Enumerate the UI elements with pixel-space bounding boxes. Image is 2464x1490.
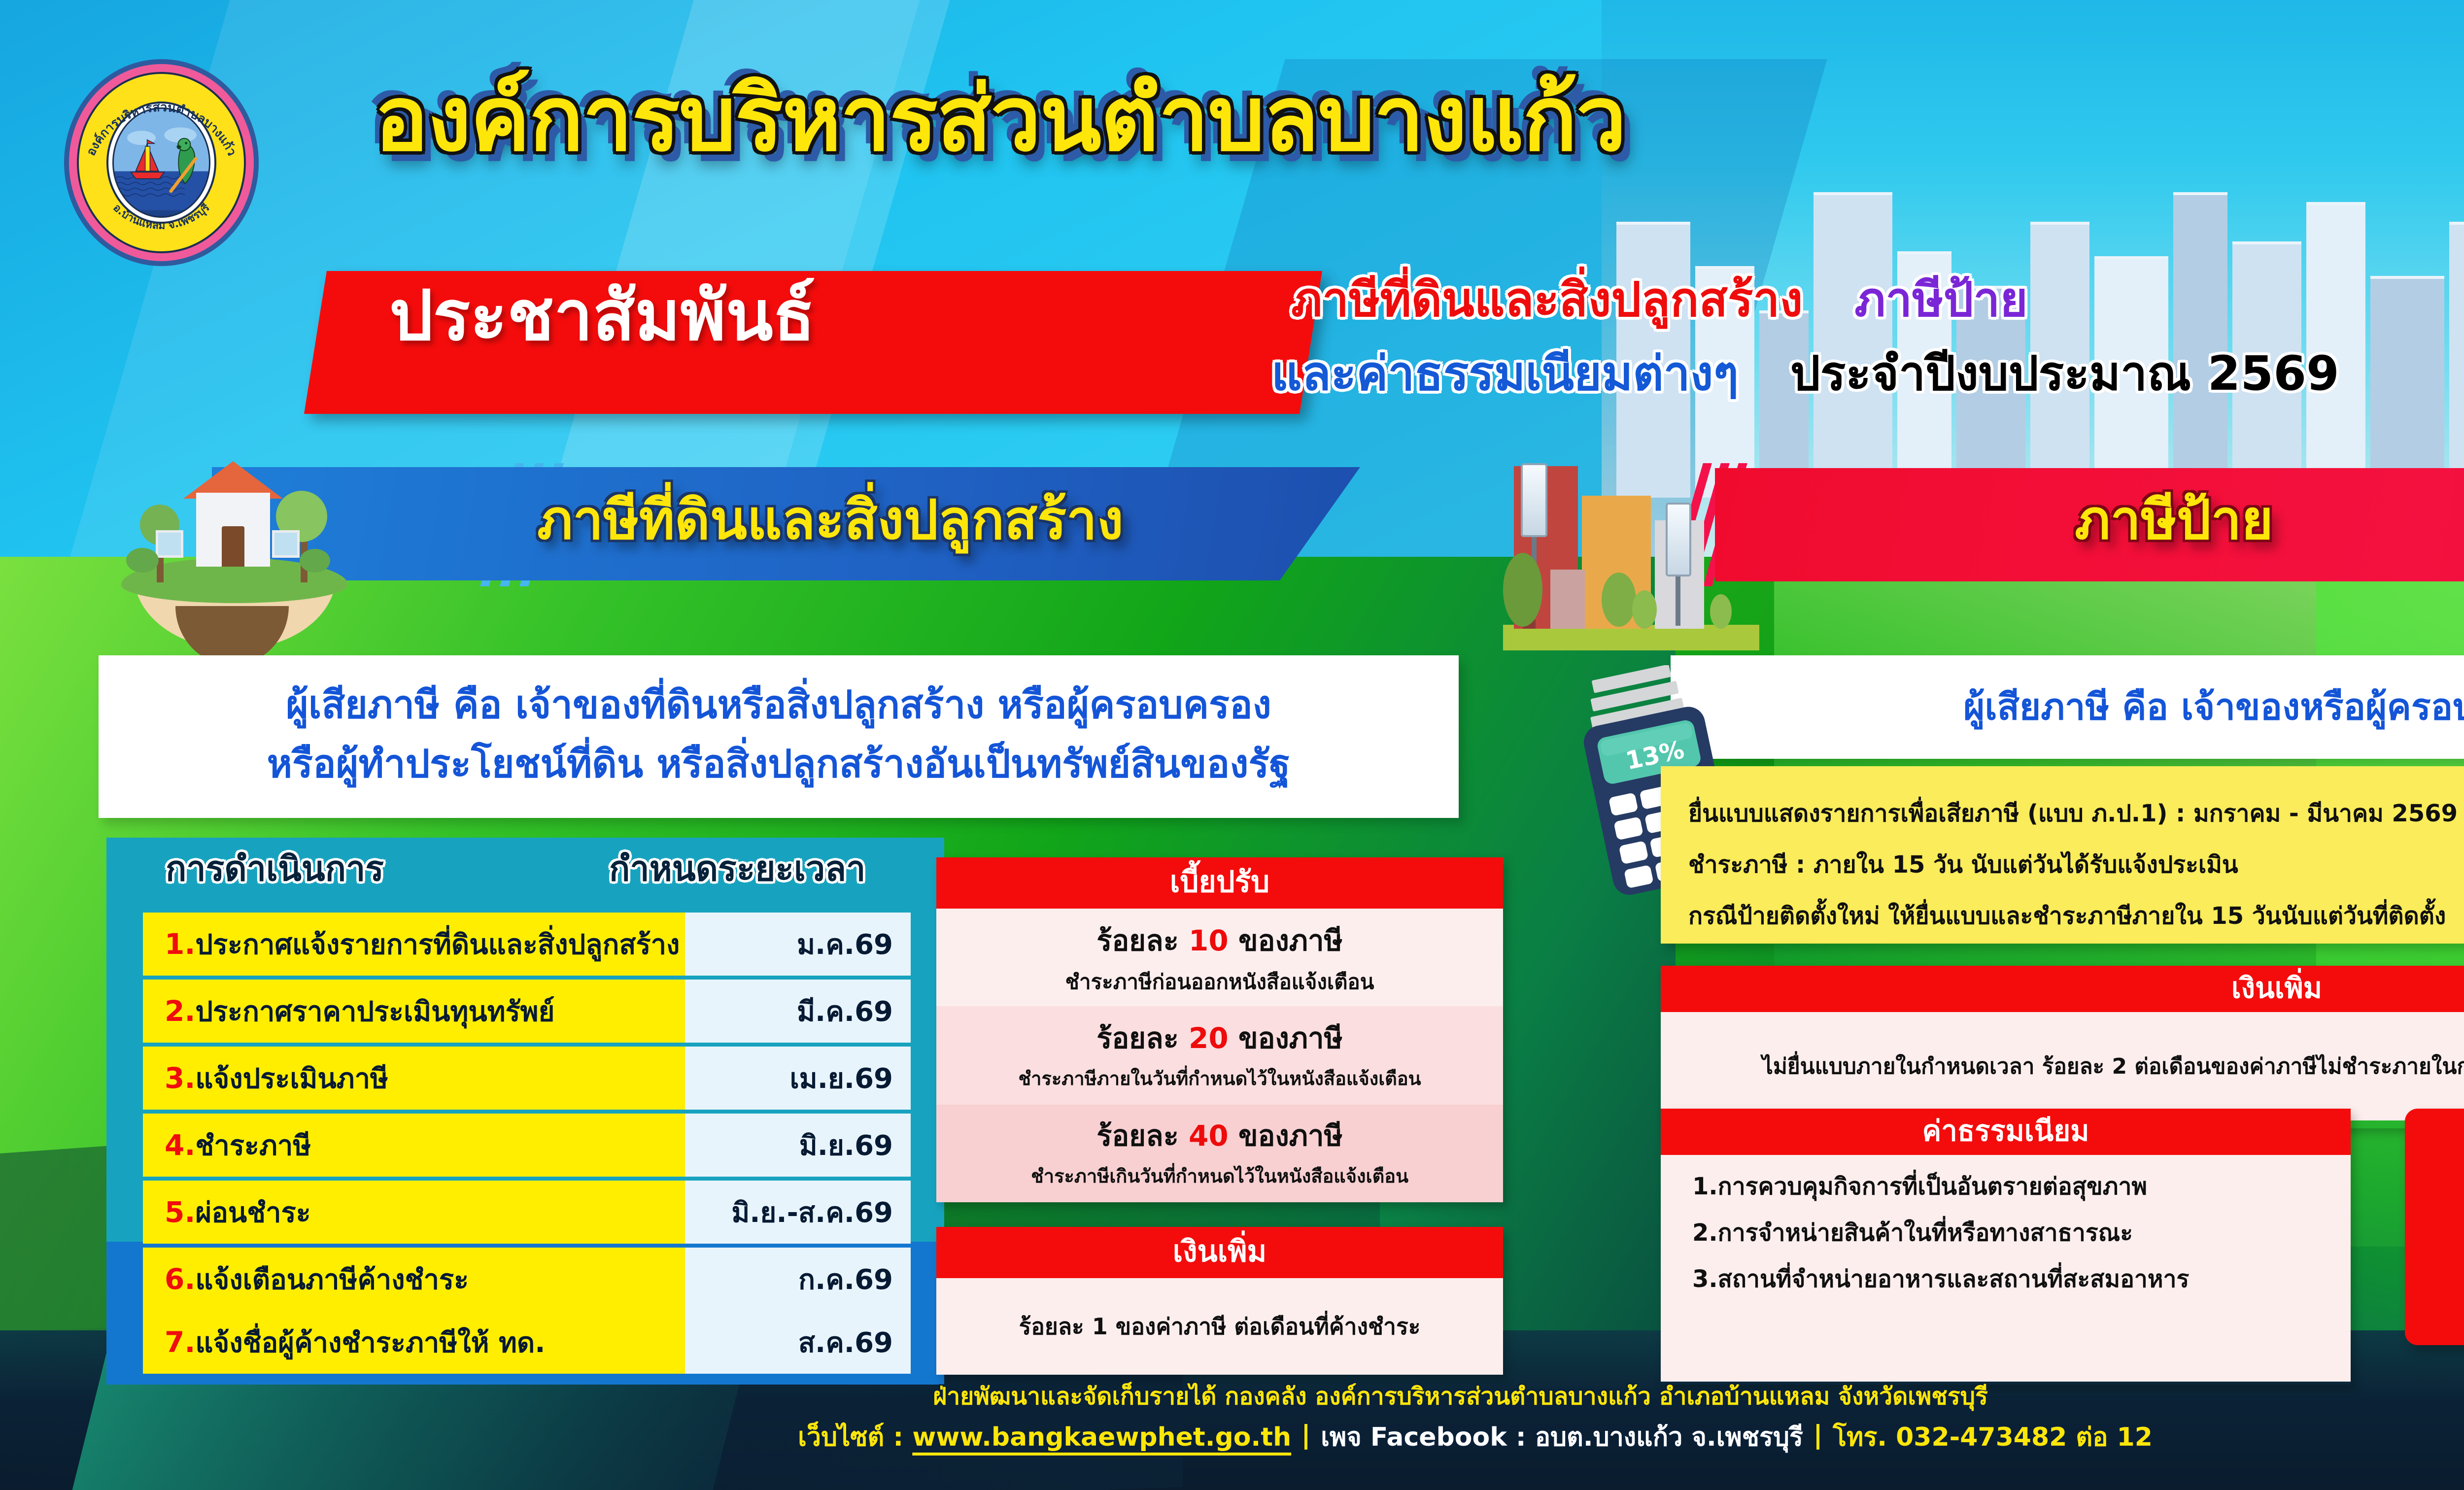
subtitle-land-tax: ภาษีที่ดินและสิ่งปลูกสร้าง (1291, 272, 1803, 327)
table-header-row: การดำเนินการ กำหนดระยะเวลา (106, 847, 944, 906)
row-number: 1. (165, 927, 195, 961)
table-cell-period: ส.ค.69 (685, 1311, 911, 1374)
table-row: 1. ประกาศแจ้งรายการที่ดินและสิ่งปลูกสร้า… (143, 913, 911, 976)
section-title-signboard-tax: ภาษีป้าย (2075, 493, 2273, 547)
penalty-rate-3: ร้อยละ 40 ของภาษี (936, 1121, 1503, 1150)
land-tax-intro-line2: หรือผู้ทำประโยชน์ที่ดิน หรือสิ่งปลูกสร้า… (99, 745, 1459, 783)
land-tax-schedule-table: การดำเนินการ กำหนดระยะเวลา 1. ประกาศแจ้ง… (106, 838, 944, 1385)
footer-facebook-label[interactable]: เพจ Facebook : อบต.บางแก้ว จ.เพชรบุรี (1321, 1422, 1803, 1452)
row-number: 5. (165, 1195, 195, 1229)
buildings-illustration (1503, 453, 1759, 650)
fees-box: ค่าธรรมเนียม 1.การควบคุมกิจการที่เป็นอัน… (1661, 1109, 2351, 1385)
row-period-label: ส.ค.69 (798, 1321, 893, 1364)
table-cell-period: เม.ย.69 (685, 1047, 911, 1110)
row-action-label: ชำระภาษี (195, 1123, 311, 1167)
row-action-label: แจ้งเตือนภาษีค้างชำระ (195, 1257, 469, 1301)
row-period-label: ก.ค.69 (798, 1257, 893, 1301)
surcharge-box-left-title: เงินเพิ่ม (936, 1227, 1503, 1278)
emblem-circular-text: องค์การบริหารส่วนตำบลบางแก้ว อ.บ้านแหลม … (64, 59, 259, 266)
penalty-rate-1: ร้อยละ 10 ของภาษี (936, 926, 1503, 955)
land-tax-intro-box: ผู้เสียภาษี คือ เจ้าของที่ดินหรือสิ่งปลู… (99, 655, 1459, 818)
header-subtitle-row1: ภาษีที่ดินและสิ่งปลูกสร้าง ภาษีป้าย (1291, 276, 2028, 323)
fee-item-3: 3.สถานที่จำหน่ายอาหารและสถานที่สะสมอาหาร (1692, 1267, 2351, 1291)
table-header-action: การดำเนินการ (166, 851, 384, 886)
poster-root: องค์การบริหารส่วนตำบลบางแก้ว อ.บ้านแหลม … (0, 0, 2464, 1490)
table-cell-period: ก.ค.69 (685, 1248, 911, 1311)
surcharge-box-right-title: เงินเพิ่ม (1661, 966, 2464, 1012)
signboard-note-3: กรณีป้ายติดตั้งใหม่ ให้ยื่นแบบและชำระภาษ… (1688, 904, 2446, 928)
table-cell-period: มิ.ย.69 (685, 1114, 911, 1177)
table-cell-action: 4. ชำระภาษี (143, 1114, 729, 1177)
table-cell-period: ม.ค.69 (685, 913, 911, 976)
subtitle-fiscal-year: ประจำปีงบประมาณ 2569 (1790, 346, 2339, 401)
row-action-label: ประกาศแจ้งรายการที่ดินและสิ่งปลูกสร้าง (195, 922, 680, 966)
signboard-note-2: ชำระภาษี : ภายใน 15 วัน นับแต่วันได้รับแ… (1688, 853, 2238, 877)
footer-website-url[interactable]: www.bangkaewphet.go.th (912, 1422, 1291, 1452)
penalty-desc-3: ชำระภาษีเกินวันที่กำหนดไว้ในหนังสือแจ้งเ… (936, 1167, 1503, 1185)
penalty-box-title: เบี้ยปรับ (936, 857, 1503, 909)
row-action-label: ผ่อนชำระ (195, 1190, 310, 1234)
table-cell-period: มี.ค.69 (685, 980, 911, 1043)
table-cell-action: 1. ประกาศแจ้งรายการที่ดินและสิ่งปลูกสร้า… (143, 913, 729, 976)
row-action-label: แจ้งประเมินภาษี (195, 1056, 388, 1100)
penalty-desc-1: ชำระภาษีก่อนออกหนังสือแจ้งเตือน (936, 972, 1503, 992)
table-cell-action: 6. แจ้งเตือนภาษีค้างชำระ (143, 1248, 729, 1311)
footer-website-label: เว็บไซต์ : (798, 1422, 912, 1452)
table-row: 5. ผ่อนชำระ มิ.ย.-ส.ค.69 (143, 1181, 911, 1244)
table-cell-action: 5. ผ่อนชำระ (143, 1181, 729, 1244)
table-row: 6. แจ้งเตือนภาษีค้างชำระ ก.ค.69 (143, 1248, 911, 1311)
row-period-label: มี.ค.69 (797, 989, 893, 1033)
row-number: 4. (165, 1128, 195, 1162)
table-cell-action: 7. แจ้งชื่อผู้ค้างชำระภาษีให้ ทด. (143, 1311, 729, 1374)
penalty-box: เบี้ยปรับ ร้อยละ 10 ของภาษี ชำระภาษีก่อน… (936, 857, 1503, 1202)
fee-item-1: 1.การควบคุมกิจการที่เป็นอันตรายต่อสุขภาพ (1692, 1175, 2351, 1198)
row-number: 7. (165, 1325, 195, 1359)
footer-phone: โทร. 032-473482 ต่อ 12 (1833, 1422, 2153, 1452)
permit-renewal-box: กำหนดต่อใบอนุญาต พร้อมชำระค่าธรรมเนียมก่… (2405, 1109, 2464, 1345)
table-row: 3. แจ้งประเมินภาษี เม.ย.69 (143, 1047, 911, 1110)
signboard-tax-intro-box: ผู้เสียภาษี คือ เจ้าของหรือผู้ครอบครองป้… (1671, 655, 2464, 759)
row-period-label: มิ.ย.69 (799, 1123, 893, 1167)
emblem-arc-sublabel: อ.บ้านแหลม จ.เพชรบุรี (110, 202, 212, 232)
signboard-note-1: ยื่นแบบแสดงรายการเพื่อเสียภาษี (แบบ ภ.ป.… (1688, 802, 2458, 825)
subtitle-fees: และค่าธรรมเนียมต่างๆ (1271, 346, 1739, 401)
surcharge-box-left: เงินเพิ่ม ร้อยละ 1 ของค่าภาษี ต่อเดือนที… (936, 1227, 1503, 1375)
footer: ฝ่ายพัฒนาและจัดเก็บรายได้ กองคลัง องค์กา… (0, 1380, 2464, 1490)
svg-text:องค์การบริหารส่วนตำบลบางแก้ว: องค์การบริหารส่วนตำบลบางแก้ว (83, 100, 239, 158)
table-row: 7. แจ้งชื่อผู้ค้างชำระภาษีให้ ทด. ส.ค.69 (143, 1311, 911, 1374)
section-title-land-tax: ภาษีที่ดินและสิ่งปลูกสร้าง (537, 493, 1124, 547)
emblem-arc-label: องค์การบริหารส่วนตำบลบางแก้ว (83, 100, 239, 158)
penalty-rate-2: ร้อยละ 20 ของภาษี (936, 1024, 1503, 1052)
surcharge-box-right: เงินเพิ่ม ไม่ยื่นแบบภายในกำหนดเวลา ร้อยล… (1661, 966, 2464, 1128)
penalty-desc-2: ชำระภาษีภายในวันที่กำหนดไว้ในหนังสือแจ้ง… (936, 1069, 1503, 1088)
page-title: องค์การบริหารส่วนตำบลบางแก้ว (375, 74, 1626, 164)
row-action-label: แจ้งชื่อผู้ค้างชำระภาษีให้ ทด. (195, 1321, 545, 1364)
signboard-tax-intro-text: ผู้เสียภาษี คือ เจ้าของหรือผู้ครอบครองป้… (1963, 689, 2464, 725)
row-period-label: มิ.ย.-ส.ค.69 (731, 1190, 893, 1234)
row-action-label: ประกาศราคาประเมินทุนทรัพย์ (195, 989, 554, 1033)
announcement-banner-label: ประชาสัมพันธ์ (389, 282, 815, 351)
row-number: 6. (165, 1262, 195, 1296)
surcharge-box-left-text: ร้อยละ 1 ของค่าภาษี ต่อเดือนที่ค้างชำระ (1019, 1315, 1421, 1338)
land-tax-intro-line1: ผู้เสียภาษี คือ เจ้าของที่ดินหรือสิ่งปลู… (99, 686, 1459, 724)
fees-box-title: ค่าธรรมเนียม (1661, 1109, 2351, 1155)
organization-emblem-icon: องค์การบริหารส่วนตำบลบางแก้ว อ.บ้านแหลม … (64, 59, 259, 266)
row-number: 2. (165, 994, 195, 1028)
table-header-period: กำหนดระยะเวลา (609, 851, 865, 886)
house-island-illustration (79, 443, 384, 650)
row-period-label: เม.ย.69 (790, 1056, 893, 1100)
footer-contact-line: เว็บไซต์ : www.bangkaewphet.go.th เพจ Fa… (0, 1424, 2464, 1450)
table-cell-period: มิ.ย.-ส.ค.69 (685, 1181, 911, 1244)
table-row: 4. ชำระภาษี มิ.ย.69 (143, 1114, 911, 1177)
svg-text:อ.บ้านแหลม จ.เพชรบุรี: อ.บ้านแหลม จ.เพชรบุรี (110, 202, 212, 232)
table-cell-action: 2. ประกาศราคาประเมินทุนทรัพย์ (143, 980, 729, 1043)
fee-item-2: 2.การจำหน่ายสินค้าในที่หรือทางสาธารณะ (1692, 1221, 2351, 1245)
table-row: 2. ประกาศราคาประเมินทุนทรัพย์ มี.ค.69 (143, 980, 911, 1043)
row-number: 3. (165, 1061, 195, 1095)
row-period-label: ม.ค.69 (797, 922, 893, 966)
header-subtitle-row2: และค่าธรรมเนียมต่างๆ ประจำปีงบประมาณ 256… (1271, 350, 2339, 397)
signboard-tax-notes-box: ยื่นแบบแสดงรายการเพื่อเสียภาษี (แบบ ภ.ป.… (1661, 766, 2464, 944)
table-cell-action: 3. แจ้งประเมินภาษี (143, 1047, 729, 1110)
subtitle-signboard-tax: ภาษีป้าย (1854, 272, 2028, 327)
surcharge-box-right-text: ไม่ยื่นแบบภายในกำหนดเวลา ร้อยละ 2 ต่อเดื… (1762, 1049, 2464, 1084)
footer-department-line: ฝ่ายพัฒนาและจัดเก็บรายได้ กองคลัง องค์กา… (0, 1385, 2464, 1408)
